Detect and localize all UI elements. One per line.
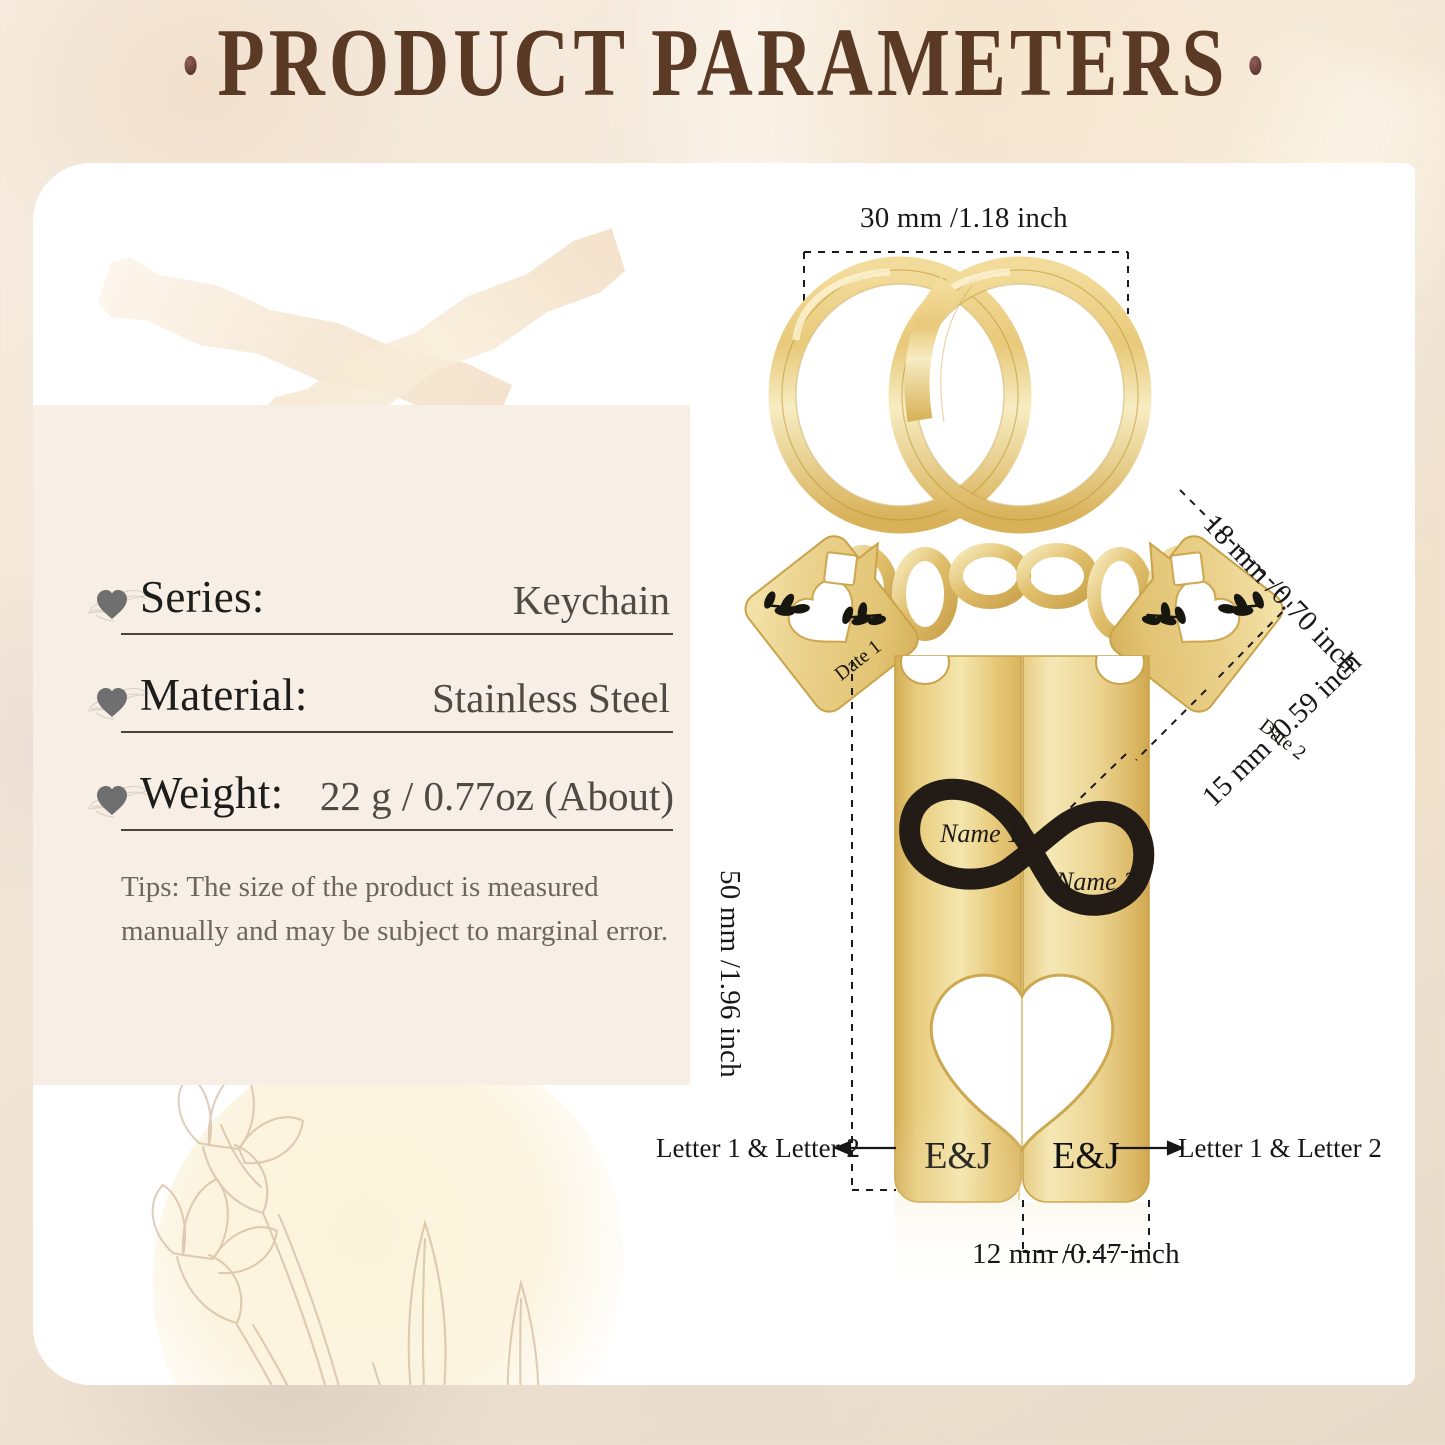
callout-letters-left: Letter 1 & Letter 2: [656, 1133, 860, 1164]
name-right-engraving: Name 2: [1055, 867, 1136, 896]
spec-list: Series: Keychain Material: Stainless Ste…: [88, 565, 678, 857]
spec-divider: [121, 731, 673, 733]
product-illustration: Date 1 Date 2: [620, 190, 1410, 1290]
bar-reflection: [895, 1112, 1021, 1202]
callout-letters-right: Letter 1 & Letter 2: [1178, 1133, 1382, 1164]
diamond-dot-icon: [184, 56, 196, 75]
letters-right-engraving: E&J: [1052, 1135, 1120, 1177]
page-header: PRODUCT PARAMETERS: [0, 14, 1445, 111]
tulip-lineart-icon: [103, 1063, 623, 1385]
spec-row: Series: Keychain: [88, 565, 678, 661]
spec-row: Weight: 22 g / 0.77oz (About): [88, 761, 678, 857]
diamond-dot-icon: [1249, 56, 1261, 75]
page-title-line: PRODUCT PARAMETERS: [163, 14, 1281, 111]
dimension-label-bar-height: 50 mm /1.96 inch: [713, 870, 746, 1078]
page-title: PRODUCT PARAMETERS: [217, 9, 1228, 116]
dimension-label-ring-width: 30 mm /1.18 inch: [860, 202, 1068, 235]
spec-divider: [121, 633, 673, 635]
diamond-cutout: [824, 552, 857, 585]
dimension-label-bar-width: 12 mm /0.47 inch: [972, 1238, 1180, 1271]
spec-divider: [121, 829, 673, 831]
tips-text: Tips: The size of the product is measure…: [121, 865, 681, 953]
spec-label: Weight:: [140, 767, 283, 819]
spec-row: Material: Stainless Steel: [88, 663, 678, 759]
ring-overlap: [917, 285, 950, 420]
diamond-cutout: [1171, 552, 1204, 585]
spec-label: Material:: [140, 669, 308, 721]
spec-label: Series:: [140, 571, 265, 623]
spec-panel: Series: Keychain Material: Stainless Ste…: [33, 405, 690, 1085]
name-left-engraving: Name 1: [939, 819, 1020, 848]
